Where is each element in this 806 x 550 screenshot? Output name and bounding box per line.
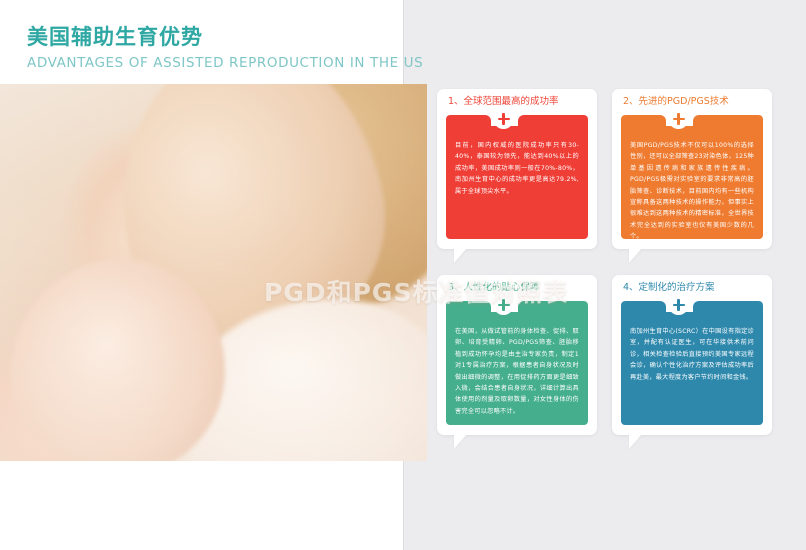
card-title: 2、先进的PGD/PGS技术 [623,95,766,109]
card-tail [454,434,467,449]
page-title-cn: 美国辅助生育优势 [27,24,407,50]
plus-icon [668,108,689,129]
card-tail [629,248,642,263]
page-title-en: ADVANTAGES OF ASSISTED REPRODUCTION IN T… [27,55,407,72]
card-tail [629,434,642,449]
plus-icon [668,294,689,315]
card-tail [454,248,467,263]
card-body: 南加州生育中心(SCRC）在中国设有指定诊室，并配有认证医生，可在华接供术前问诊… [621,301,763,425]
card-body: 美国PGD/PGS技术不仅可以100%的选择性别，还可以全部筛查23对染色体，1… [621,115,763,239]
card-success-rate[interactable]: 1、全球范围最高的成功率 目前，国内权威的医院成功率只有30-40%，泰国较为领… [437,89,597,249]
plus-icon-vertical-bar [502,113,505,125]
card-body-text: 南加州生育中心(SCRC）在中国设有指定诊室，并配有认证医生，可在华接供术前问诊… [630,326,754,383]
page-root: 美国辅助生育优势 ADVANTAGES OF ASSISTED REPRODUC… [0,0,806,550]
plus-icon [493,108,514,129]
card-title: 4、定制化的治疗方案 [623,281,766,295]
card-body-text: 美国PGD/PGS技术不仅可以100%的选择性别，还可以全部筛查23对染色体，1… [630,140,754,243]
card-custom-treatment[interactable]: 4、定制化的治疗方案 南加州生育中心(SCRC）在中国设有指定诊室，并配有认证医… [612,275,772,435]
hero-photo-overlay [0,84,427,461]
plus-icon-vertical-bar [677,113,680,125]
card-body-text: 目前，国内权威的医院成功率只有30-40%，泰国较为领先，能达到40%以上的成功… [455,140,579,197]
card-body: 目前，国内权威的医院成功率只有30-40%，泰国较为领先，能达到40%以上的成功… [446,115,588,239]
card-body: 在美国，从做试管前的身体检查、促排、取卵、培育受精卵、PGD/PGS筛查、胚胎移… [446,301,588,425]
card-body-text: 在美国，从做试管前的身体检查、促排、取卵、培育受精卵、PGD/PGS筛查、胚胎移… [455,326,579,417]
card-title: 1、全球范围最高的成功率 [448,95,591,109]
page-header: 美国辅助生育优势 ADVANTAGES OF ASSISTED REPRODUC… [27,24,407,72]
card-pgd-pgs[interactable]: 2、先进的PGD/PGS技术 美国PGD/PGS技术不仅可以100%的选择性别，… [612,89,772,249]
plus-icon-vertical-bar [677,299,680,311]
hero-photo [0,84,427,461]
watermark-text: PGD和PGS标准值对照表 [264,279,568,307]
